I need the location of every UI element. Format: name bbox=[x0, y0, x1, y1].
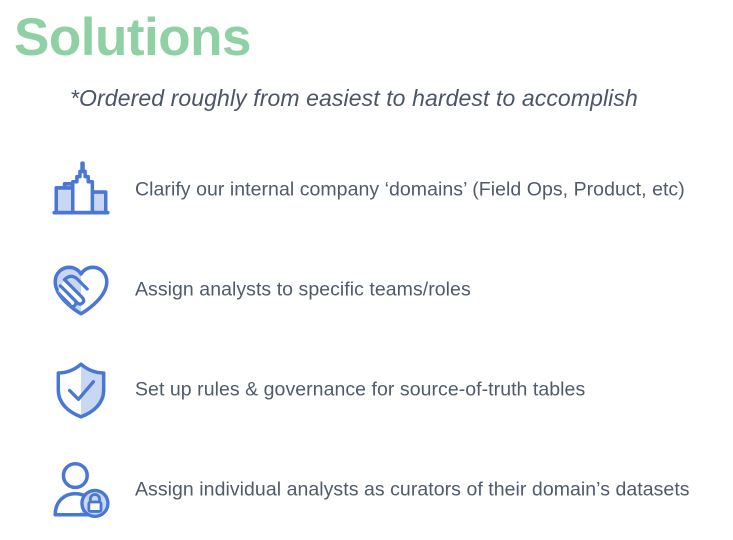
list-item-label: Set up rules & governance for source-of-… bbox=[135, 379, 585, 402]
page-subtitle: *Ordered roughly from easiest to hardest… bbox=[70, 85, 638, 112]
list-item: Assign analysts to specific teams/roles bbox=[0, 240, 733, 340]
list-item: Assign individual analysts as curators o… bbox=[0, 440, 733, 540]
solutions-slide: Solutions *Ordered roughly from easiest … bbox=[0, 0, 733, 516]
handshake-heart-icon bbox=[48, 257, 114, 323]
user-lock-icon bbox=[48, 457, 114, 523]
list-item-label: Assign individual analysts as curators o… bbox=[135, 479, 690, 502]
list-item: Clarify our internal company ‘domains’ (… bbox=[0, 140, 733, 240]
list-item: Set up rules & governance for source-of-… bbox=[0, 340, 733, 440]
list-item-label: Clarify our internal company ‘domains’ (… bbox=[135, 179, 685, 202]
city-buildings-icon bbox=[48, 157, 114, 223]
shield-check-icon bbox=[48, 357, 114, 423]
solutions-list: Clarify our internal company ‘domains’ (… bbox=[0, 140, 733, 540]
list-item-label: Assign analysts to specific teams/roles bbox=[135, 279, 471, 302]
page-title: Solutions bbox=[14, 8, 251, 69]
